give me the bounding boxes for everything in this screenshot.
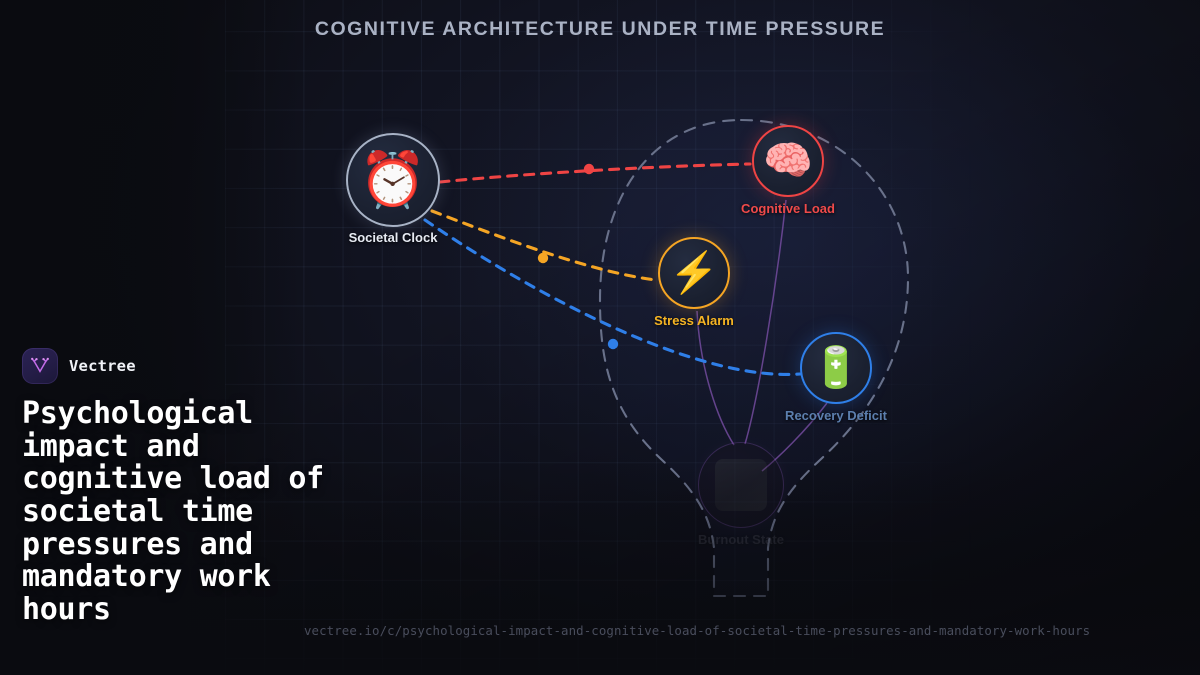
canvas-stage: COGNITIVE ARCHITECTURE UNDER TIME PRESSU… [0,0,1200,675]
node-cognitive-load-label: Cognitive Load [741,201,835,216]
node-cognitive-load-disc[interactable]: 🧠 [752,125,824,197]
headline: Psychological impact and cognitive load … [22,398,352,627]
brand[interactable]: Vectree [22,348,352,384]
node-stress-alarm-label: Stress Alarm [654,313,734,328]
node-societal-clock-label: Societal Clock [349,230,438,245]
battery-icon: 🔋 [811,348,861,388]
brand-name: Vectree [69,357,136,375]
node-stress-alarm[interactable]: ⚡ Stress Alarm [658,237,730,309]
edge-marker-clock-to-recovery-deficit [608,339,618,349]
node-stress-alarm-disc[interactable]: ⚡ [658,237,730,309]
node-cognitive-load[interactable]: 🧠 Cognitive Load [752,125,824,197]
node-recovery-deficit-disc[interactable]: 🔋 [800,332,872,404]
vectree-branch-logo-icon [22,348,58,384]
node-societal-clock[interactable]: ⏰ Societal Clock [346,133,440,227]
edge-marker-clock-to-stress-alarm [538,253,548,263]
node-recovery-deficit[interactable]: 🔋 Recovery Deficit [800,332,872,404]
footer-url: vectree.io/c/psychological-impact-and-co… [304,623,1090,638]
edge-marker-clock-to-cognitive-load [584,164,594,174]
node-societal-clock-disc[interactable]: ⏰ [346,133,440,227]
node-recovery-deficit-label: Recovery Deficit [785,408,887,423]
lightning-bolt-icon: ⚡ [669,253,719,293]
alarm-clock-icon: ⏰ [359,153,426,207]
info-panel: Vectree Psychological impact and cogniti… [22,348,352,627]
brain-icon: 🧠 [763,141,813,181]
